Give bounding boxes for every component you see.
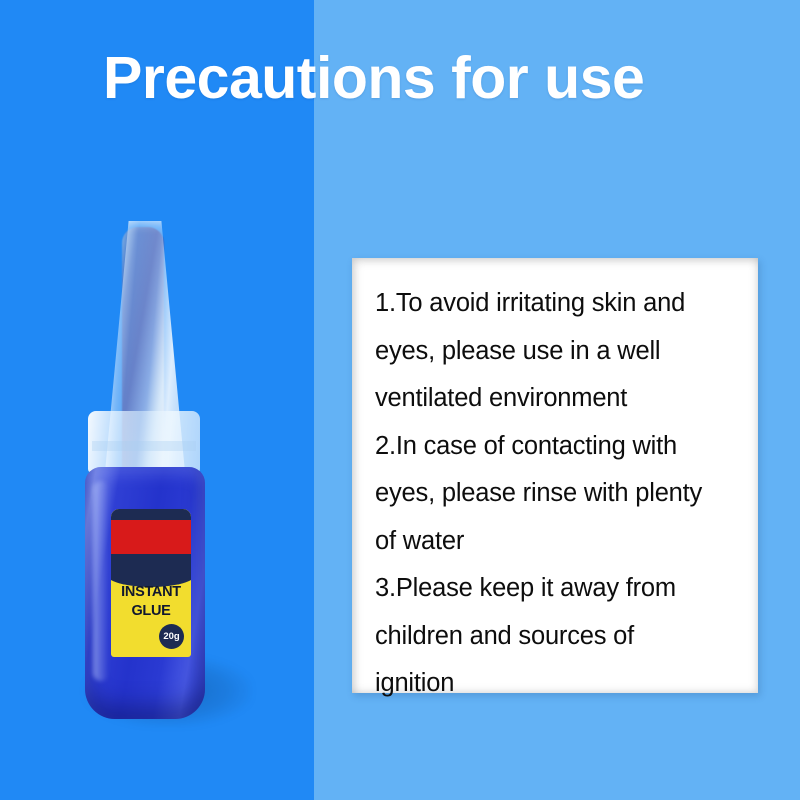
precaution-line: 2.In case of contacting with bbox=[375, 423, 743, 471]
precaution-line: eyes, please rinse with plenty bbox=[375, 470, 743, 518]
bottle-label: INSTANT GLUE 20g bbox=[111, 509, 191, 657]
bottle-body: INSTANT GLUE 20g bbox=[85, 467, 205, 719]
precaution-line: ignition bbox=[375, 660, 743, 708]
precautions-text: 1.To avoid irritating skin and eyes, ple… bbox=[375, 280, 743, 708]
precaution-line: children and sources of bbox=[375, 613, 743, 661]
precaution-line: of water bbox=[375, 518, 743, 566]
label-product-name-line1: INSTANT bbox=[111, 583, 191, 602]
precaution-line: 3.Please keep it away from bbox=[375, 565, 743, 613]
page-title: Precautions for use bbox=[103, 48, 743, 110]
bottle-body-highlight bbox=[93, 481, 109, 681]
label-weight-badge: 20g bbox=[159, 624, 184, 649]
precaution-line: ventilated environment bbox=[375, 375, 743, 423]
precaution-line: eyes, please use in a well bbox=[375, 328, 743, 376]
label-product-name-line2: GLUE bbox=[111, 602, 191, 621]
label-red-stripe bbox=[111, 520, 191, 554]
instant-glue-bottle-image: INSTANT GLUE 20g bbox=[60, 215, 260, 735]
product-infographic: Precautions for use INSTANT GLUE 20g 1.T… bbox=[0, 0, 800, 800]
bottle-cap-collar bbox=[88, 411, 200, 473]
label-product-name: INSTANT GLUE bbox=[111, 583, 191, 621]
precaution-line: 1.To avoid irritating skin and bbox=[375, 280, 743, 328]
precautions-panel: 1.To avoid irritating skin and eyes, ple… bbox=[352, 258, 758, 693]
